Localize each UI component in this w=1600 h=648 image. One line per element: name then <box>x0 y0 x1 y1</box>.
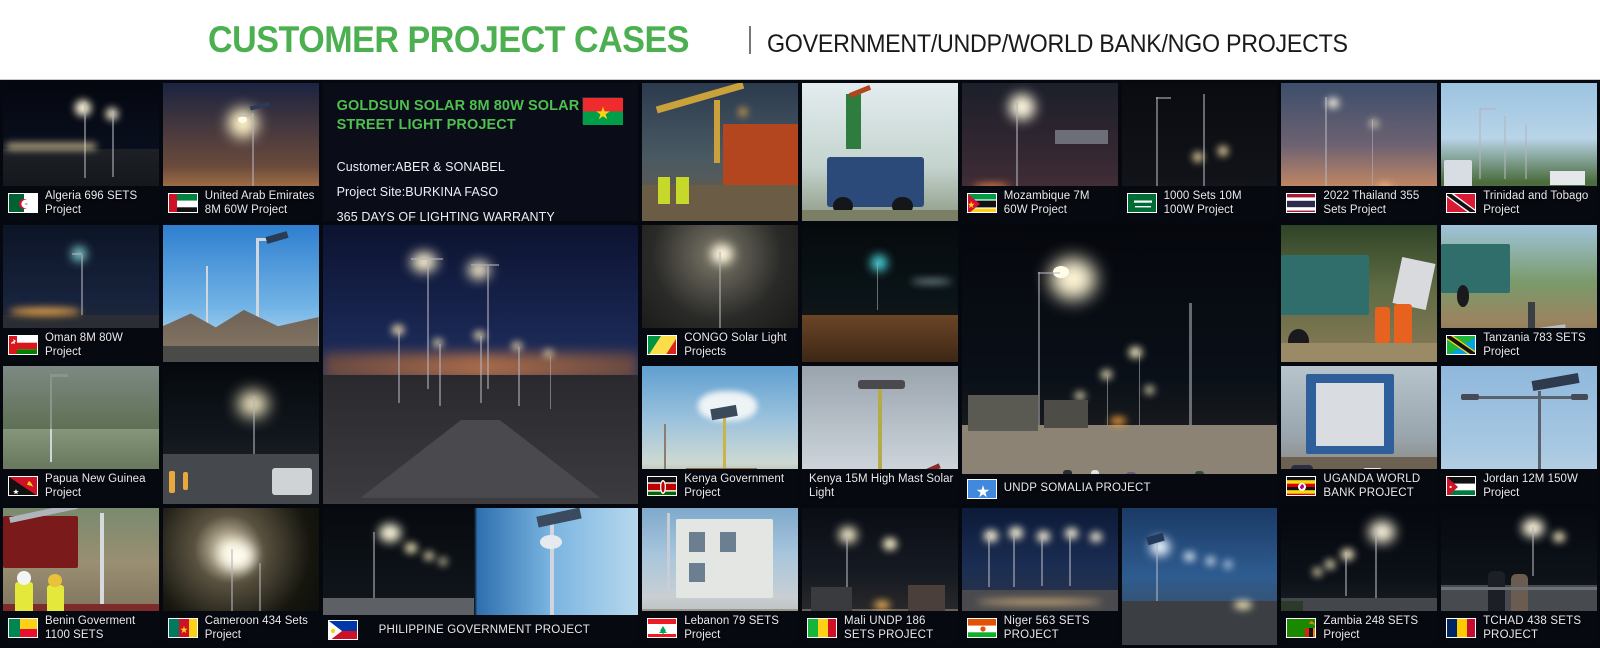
gallery-item-mozambique[interactable]: Mozambique 7M 60W Project <box>962 83 1118 221</box>
gallery-item-teal-road[interactable] <box>802 225 958 363</box>
caption-uganda: UGANDA WORLD BANK PROJECT <box>1281 469 1437 503</box>
caption-text: Jordan 12M 150W Project <box>1483 472 1593 500</box>
flag-trinidad-and-tobago-icon <box>1446 193 1476 213</box>
caption-mali: Mali UNDP 186 SETS PROJECT <box>802 611 958 645</box>
caption-benin: Benin Goverment 1100 SETS <box>3 611 159 645</box>
caption-text: Algeria 696 SETS Project <box>45 189 155 217</box>
flag-thailand-icon <box>1286 193 1316 213</box>
flag-benin-icon <box>8 618 38 638</box>
gallery-item-jordan[interactable]: Jordan 12M 150W Project <box>1441 366 1597 504</box>
photo-tanzania-install <box>1281 225 1437 363</box>
caption-text: Mozambique 7M 60W Project <box>1004 189 1114 217</box>
caption-lebanon: Lebanon 79 SETS Project <box>642 611 798 645</box>
flag-mali-icon <box>807 618 837 638</box>
gallery-item-tanzania-b[interactable]: Tanzania 783 SETS Project <box>1441 225 1597 363</box>
gallery-item-somalia[interactable]: UNDP SOMALIA PROJECT <box>962 225 1278 504</box>
flag-papua-new-guinea-icon <box>8 476 38 496</box>
gallery-item-png[interactable]: Papua New Guinea Project <box>3 366 159 504</box>
featured-heading: GOLDSUN SOLAR 8M 80W SOLAR STREET LIGHT … <box>337 97 587 134</box>
photo-blue-hour-road <box>1122 508 1278 646</box>
caption-text: Kenya 15M High Mast Solar Light <box>807 472 954 500</box>
gallery-item-niger[interactable]: Niger 563 SETS PROJECT <box>962 508 1118 646</box>
page-subtitle: GOVERNMENT/UNDP/WORLD BANK/NGO PROJECTS <box>767 30 1348 59</box>
caption-text: CONGO Solar Light Projects <box>684 331 794 359</box>
gallery-item-truck[interactable] <box>802 83 958 221</box>
flag-burkina-faso-icon <box>582 97 622 124</box>
flag-philippines-icon <box>328 620 358 640</box>
caption-text: PHILIPPINE GOVERNMENT PROJECT <box>379 623 590 637</box>
featured-details: Customer:ABER & SONABEL Project Site:BUR… <box>337 155 623 220</box>
caption-text: TCHAD 438 SETS PROJECT <box>1483 614 1593 642</box>
gallery-item-mountain[interactable] <box>163 225 319 363</box>
caption-text: Lebanon 79 SETS Project <box>684 614 794 642</box>
gallery-item-cameroon[interactable]: Cameroon 434 Sets Project <box>163 508 319 646</box>
caption-congo: CONGO Solar Light Projects <box>642 328 798 362</box>
flag-uganda-icon <box>1286 476 1316 496</box>
flag-niger-icon <box>967 618 997 638</box>
featured-project-card[interactable]: GOLDSUN SOLAR 8M 80W SOLAR STREET LIGHT … <box>323 83 639 221</box>
caption-oman: Oman 8M 80W Project <box>3 328 159 362</box>
caption-kenya-mast: Kenya 15M High Mast Solar Light <box>802 469 958 503</box>
caption-text: UGANDA WORLD BANK PROJECT <box>1323 472 1433 500</box>
caption-saudi: 1000 Sets 10M 100W Project <box>1122 186 1278 220</box>
caption-tanzania: Tanzania 783 SETS Project <box>1441 328 1597 362</box>
photo-truck-delivery <box>802 83 958 221</box>
page-title: CUSTOMER PROJECT CASES <box>208 19 689 61</box>
gallery-item-algeria[interactable]: Algeria 696 SETS Project <box>3 83 159 221</box>
gallery-item-trinidad[interactable]: Trinidad and Tobago Project <box>1441 83 1597 221</box>
gallery-item-thailand[interactable]: 2022 Thailand 355 Sets Project <box>1281 83 1437 221</box>
flag-oman-icon <box>8 335 38 355</box>
gallery-item-uae[interactable]: United Arab Emirates 8M 60W Project <box>163 83 319 221</box>
caption-tchad: TCHAD 438 SETS PROJECT <box>1441 611 1597 645</box>
flag-undp-icon <box>967 479 997 499</box>
flag-kenya-icon <box>647 476 677 496</box>
title-divider <box>749 26 751 54</box>
flag-zambia-icon <box>1286 618 1316 638</box>
flag-lebanon-icon <box>647 618 677 638</box>
caption-somalia: UNDP SOMALIA PROJECT <box>962 474 1278 504</box>
caption-zambia: Zambia 248 SETS Project <box>1281 611 1437 645</box>
caption-text: UNDP SOMALIA PROJECT <box>1004 481 1151 495</box>
caption-text: Benin Goverment 1100 SETS <box>45 614 155 642</box>
caption-algeria: Algeria 696 SETS Project <box>3 186 159 220</box>
gallery-item-uganda[interactable]: UGANDA WORLD BANK PROJECT <box>1281 366 1437 504</box>
caption-thailand: 2022 Thailand 355 Sets Project <box>1281 186 1437 220</box>
photo-undp-somalia <box>962 225 1278 504</box>
gallery-item-philippine[interactable]: PHILIPPINE GOVERNMENT PROJECT <box>323 508 639 646</box>
photo-dusk-highway <box>323 225 639 504</box>
flag-jordan-icon <box>1446 476 1476 496</box>
gallery-item-zambia[interactable]: Zambia 248 SETS Project <box>1281 508 1437 646</box>
caption-mozambique: Mozambique 7M 60W Project <box>962 186 1118 220</box>
gallery-item-crane[interactable] <box>642 83 798 221</box>
flag-cameroon-icon <box>168 618 198 638</box>
gallery-item-lebanon[interactable]: Lebanon 79 SETS Project <box>642 508 798 646</box>
gallery-item-saudi[interactable]: 1000 Sets 10M 100W Project <box>1122 83 1278 221</box>
flag-tanzania-icon <box>1446 335 1476 355</box>
caption-text: 1000 Sets 10M 100W Project <box>1164 189 1274 217</box>
featured-line-customer: Customer:ABER & SONABEL <box>337 155 623 180</box>
caption-kenya-gov: Kenya Government Project <box>642 469 798 503</box>
caption-text: 2022 Thailand 355 Sets Project <box>1323 189 1433 217</box>
gallery-item-blue-road[interactable] <box>1122 508 1278 646</box>
gallery-item-tchad[interactable]: TCHAD 438 SETS PROJECT <box>1441 508 1597 646</box>
gallery-item-kenya-gov[interactable]: Kenya Government Project <box>642 366 798 504</box>
caption-text: Papua New Guinea Project <box>45 472 155 500</box>
project-gallery-grid: Algeria 696 SETS Project United Arab Emi <box>0 80 1600 648</box>
gallery-item-congo[interactable]: CONGO Solar Light Projects <box>642 225 798 363</box>
photo-night-road <box>163 366 319 504</box>
photo-teal-road <box>802 225 958 363</box>
gallery-item-oman[interactable]: Oman 8M 80W Project <box>3 225 159 363</box>
featured-line-site: Project Site:BURKINA FASO <box>337 180 623 205</box>
caption-philippine: PHILIPPINE GOVERNMENT PROJECT <box>323 615 639 645</box>
caption-text: Cameroon 434 Sets Project <box>205 614 315 642</box>
flag-saudi-arabia-icon <box>1127 193 1157 213</box>
flag-uae-icon <box>168 193 198 213</box>
flag-mozambique-icon <box>967 193 997 213</box>
caption-text: Oman 8M 80W Project <box>45 331 155 359</box>
gallery-item-kenya-mast[interactable]: Kenya 15M High Mast Solar Light <box>802 366 958 504</box>
flag-algeria-icon <box>8 193 38 213</box>
featured-line-warranty: 365 DAYS OF LIGHTING WARRANTY <box>337 205 623 220</box>
caption-text: Kenya Government Project <box>684 472 794 500</box>
caption-jordan: Jordan 12M 150W Project <box>1441 469 1597 503</box>
caption-png: Papua New Guinea Project <box>3 469 159 503</box>
photo-crane-installation <box>642 83 798 221</box>
caption-trinidad: Trinidad and Tobago Project <box>1441 186 1597 220</box>
caption-uae: United Arab Emirates 8M 60W Project <box>163 186 319 220</box>
photo-mountain-road <box>163 225 319 363</box>
flag-chad-icon <box>1446 618 1476 638</box>
gallery-item-night-road[interactable] <box>163 366 319 504</box>
caption-text: United Arab Emirates 8M 60W Project <box>205 189 315 217</box>
gallery-item-benin[interactable]: Benin Goverment 1100 SETS <box>3 508 159 646</box>
caption-text: Niger 563 SETS PROJECT <box>1004 614 1114 642</box>
gallery-item-mali[interactable]: Mali UNDP 186 SETS PROJECT <box>802 508 958 646</box>
gallery-item-dusk-highway[interactable] <box>323 225 639 504</box>
gallery-item-tanzania-a[interactable] <box>1281 225 1437 363</box>
caption-text: Mali UNDP 186 SETS PROJECT <box>844 614 954 642</box>
caption-cameroon: Cameroon 434 Sets Project <box>163 611 319 645</box>
page-header: CUSTOMER PROJECT CASES GOVERNMENT/UNDP/W… <box>0 0 1600 80</box>
caption-text: Tanzania 783 SETS Project <box>1483 331 1593 359</box>
project-cases-page: CUSTOMER PROJECT CASES GOVERNMENT/UNDP/W… <box>0 0 1600 648</box>
flag-congo-icon <box>647 335 677 355</box>
caption-niger: Niger 563 SETS PROJECT <box>962 611 1118 645</box>
caption-text: Zambia 248 SETS Project <box>1323 614 1433 642</box>
caption-text: Trinidad and Tobago Project <box>1483 189 1593 217</box>
